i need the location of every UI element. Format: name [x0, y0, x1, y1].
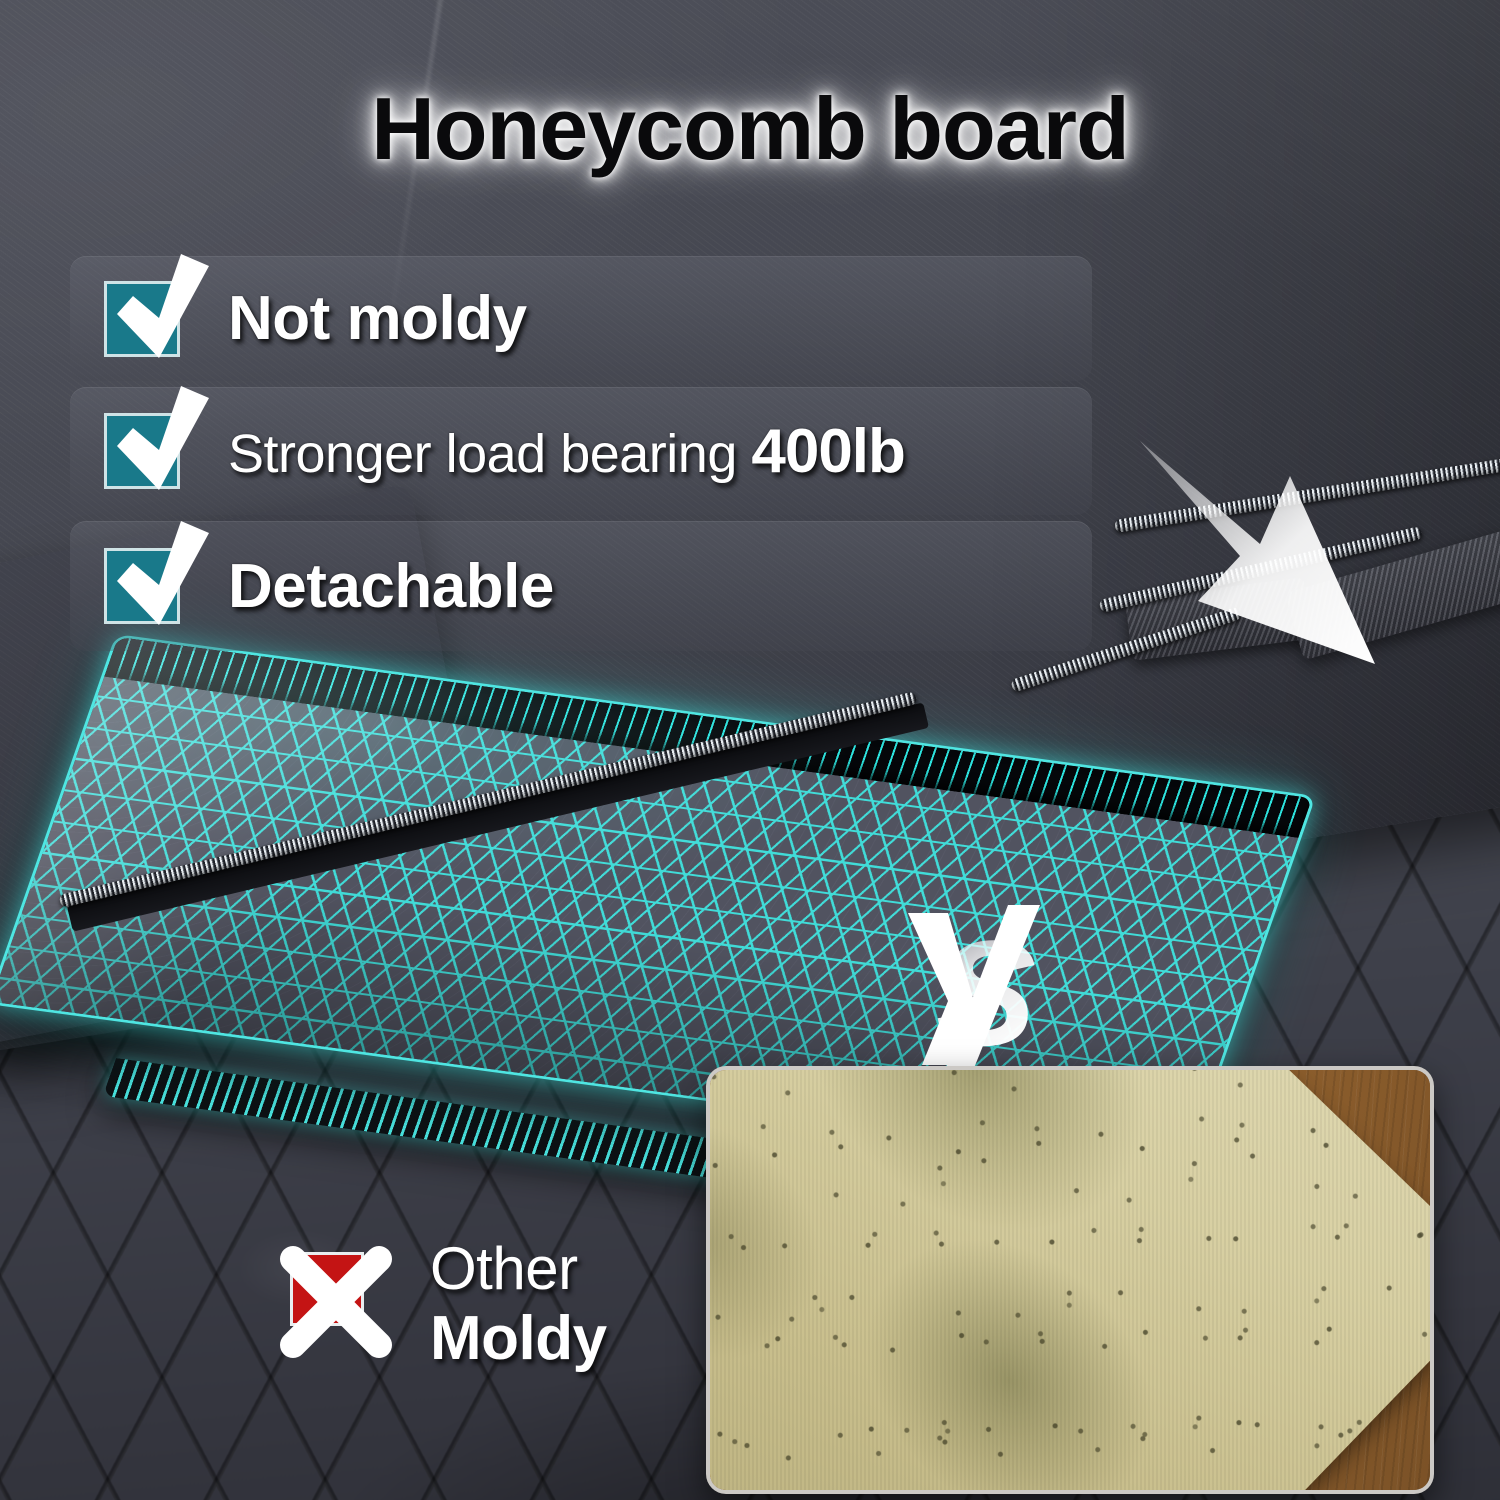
- check-icon: [104, 281, 180, 357]
- negative-comparison-block: Other Moldy: [290, 1238, 710, 1438]
- x-icon: [290, 1252, 364, 1326]
- feature-label-not-moldy: Not moldy: [228, 283, 527, 354]
- feature-label-load-bearing-prefix: Stronger load bearing: [228, 424, 751, 484]
- feature-row-detachable[interactable]: Detachable: [70, 521, 1092, 651]
- checkmark-glyph: [103, 252, 223, 370]
- feature-label-load-bearing-value: 400lb: [751, 417, 905, 486]
- feature-list: Not moldy Stronger load bearing 400lb De…: [70, 256, 1092, 651]
- moldy-board-surface: [706, 1066, 1434, 1494]
- page-title: Honeycomb board: [0, 78, 1500, 180]
- negative-label-moldy: Moldy: [430, 1299, 607, 1378]
- check-icon: [104, 548, 180, 624]
- feature-label-detachable: Detachable: [228, 551, 554, 622]
- feature-row-load-bearing[interactable]: Stronger load bearing 400lb: [70, 387, 1092, 515]
- checkmark-glyph: [103, 384, 223, 502]
- x-glyph: [267, 1233, 403, 1369]
- versus-badge: S: [900, 905, 1080, 1075]
- check-icon: [104, 413, 180, 489]
- checkmark-glyph: [103, 519, 223, 637]
- feature-label-load-bearing: Stronger load bearing 400lb: [228, 416, 905, 487]
- product-infographic: Honeycomb board Not moldy Stronger load …: [0, 0, 1500, 1500]
- arrow-down-right-icon: [1140, 396, 1440, 686]
- feature-row-not-moldy[interactable]: Not moldy: [70, 256, 1092, 381]
- negative-label-group: Other Moldy: [430, 1238, 607, 1379]
- moldy-board-photo: [706, 1066, 1434, 1494]
- negative-label-other: Other: [430, 1238, 607, 1299]
- mold-speckle-texture: [706, 1066, 1434, 1494]
